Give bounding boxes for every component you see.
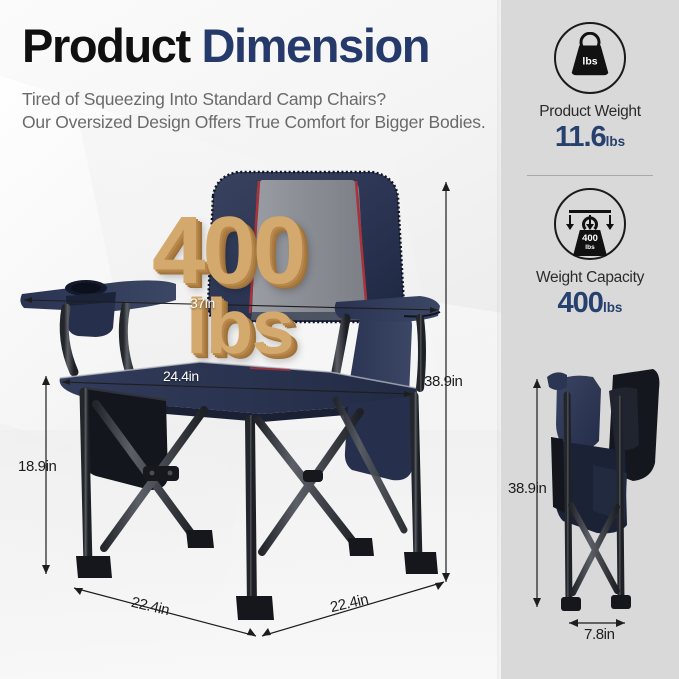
badge-product-weight: lbs Product Weight 11.6lbs <box>501 22 679 152</box>
dim-armrest-width: 37in <box>190 295 215 311</box>
weight-icon-text: lbs <box>582 56 597 67</box>
chair-illustration: 400 lbs 37in 24.4in 18.9in 38.9in 22.4in… <box>0 0 501 679</box>
frame-hub <box>143 466 179 481</box>
capacity-icon-text-1: 400 <box>582 234 598 244</box>
capacity-icon-text-2: lbs <box>585 244 594 252</box>
dim-seat-width: 24.4in <box>163 368 199 384</box>
badge-value-weight-capacity: 400lbs <box>501 289 679 318</box>
weight-capacity-number: 400 <box>558 287 603 319</box>
infographic-root: Product Dimension Tired of Squeezing Int… <box>0 0 679 679</box>
weight-capacity-icon: 400 lbs <box>554 188 626 260</box>
dim-overall-height: 38.9in <box>424 373 462 390</box>
badge-label-product-weight: Product Weight <box>501 103 679 121</box>
badge-divider <box>527 175 653 176</box>
product-weight-number: 11.6 <box>555 121 606 153</box>
dim-folded-height: 38.9in <box>508 480 546 497</box>
dim-seat-height: 18.9in <box>18 458 56 475</box>
chair-left-armrest <box>20 280 176 337</box>
dim-folded-width: 7.8in <box>584 626 615 643</box>
badge-label-weight-capacity: Weight Capacity <box>501 269 679 287</box>
badge-weight-capacity: 400 lbs Weight Capacity 400lbs <box>501 188 679 318</box>
weight-icon: lbs <box>554 22 626 94</box>
product-weight-unit: lbs <box>606 134 626 149</box>
weight-capacity-unit: lbs <box>603 300 623 315</box>
badge-value-product-weight: 11.6lbs <box>501 123 679 152</box>
